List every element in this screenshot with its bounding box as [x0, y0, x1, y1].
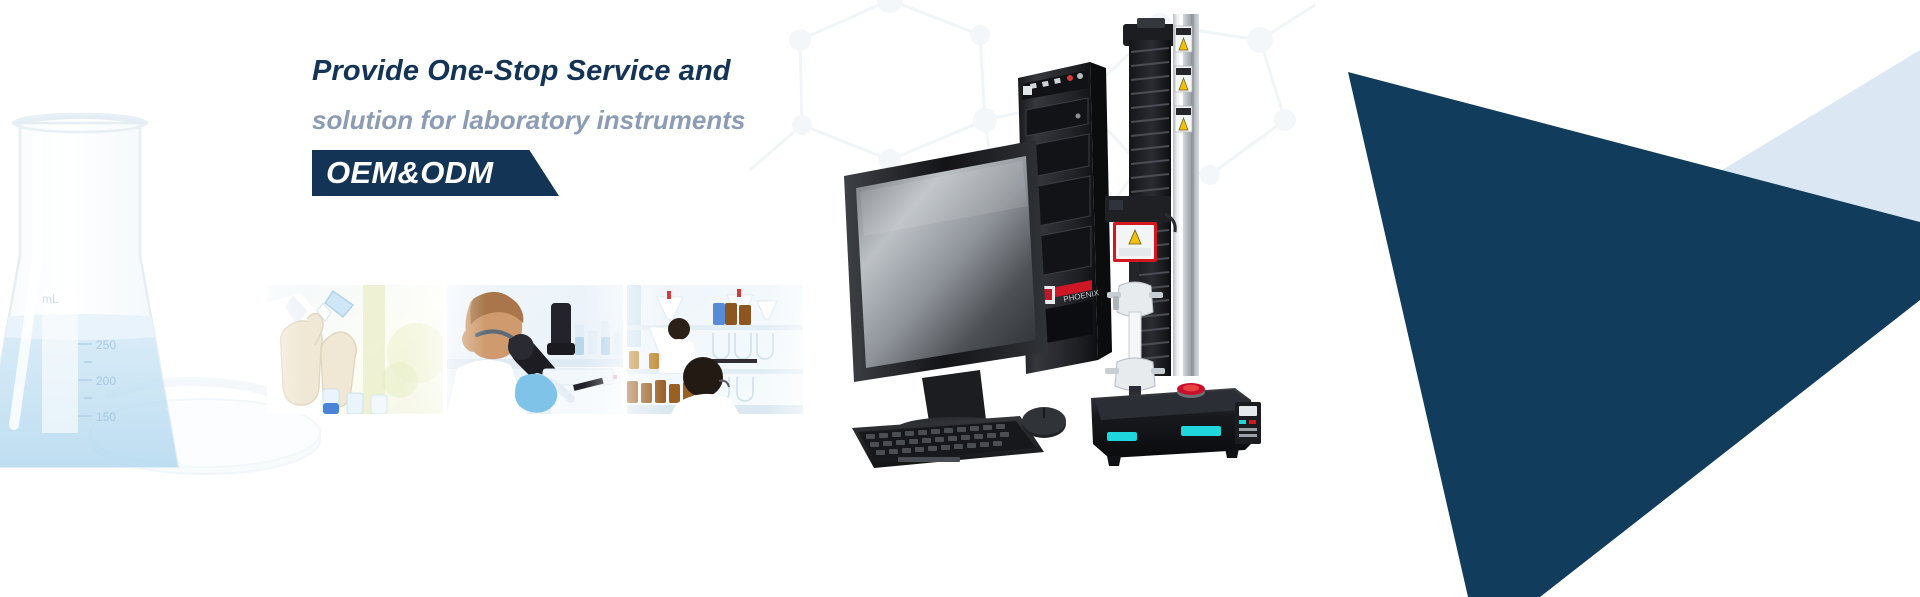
computer-tower: PHOENIX — [1018, 62, 1112, 374]
arrow-decoration-group — [1200, 0, 1920, 597]
oem-odm-badge: OEM&ODM — [312, 150, 932, 196]
headline-line-2: solution for laboratory instruments — [312, 107, 932, 133]
svg-text:mL: mL — [42, 292, 59, 306]
svg-text:150: 150 — [96, 410, 116, 424]
svg-text:250: 250 — [96, 338, 116, 352]
keyboard — [852, 416, 1044, 468]
headline-line-1: Provide One-Stop Service and — [312, 57, 932, 86]
badge-label: OEM&ODM — [326, 150, 493, 196]
svg-text:200: 200 — [96, 374, 116, 388]
svg-text:PHOENIX: PHOENIX — [1063, 288, 1101, 304]
thumbnail-microscope — [447, 285, 623, 414]
thumbnail-strip — [267, 285, 803, 414]
navy-arrow-shape — [1348, 72, 1920, 597]
thumbnail-lab-technicians — [627, 285, 803, 414]
mouse — [1022, 407, 1066, 438]
hero-banner: 250 200 150 mL Provide One-Stop Service … — [0, 0, 1920, 597]
thumbnail-pipetting — [267, 285, 443, 414]
headline-block: Provide One-Stop Service and solution fo… — [312, 57, 932, 196]
tensile-testing-machine — [1085, 0, 1285, 470]
light-blue-arrow-shape — [1620, 50, 1920, 270]
